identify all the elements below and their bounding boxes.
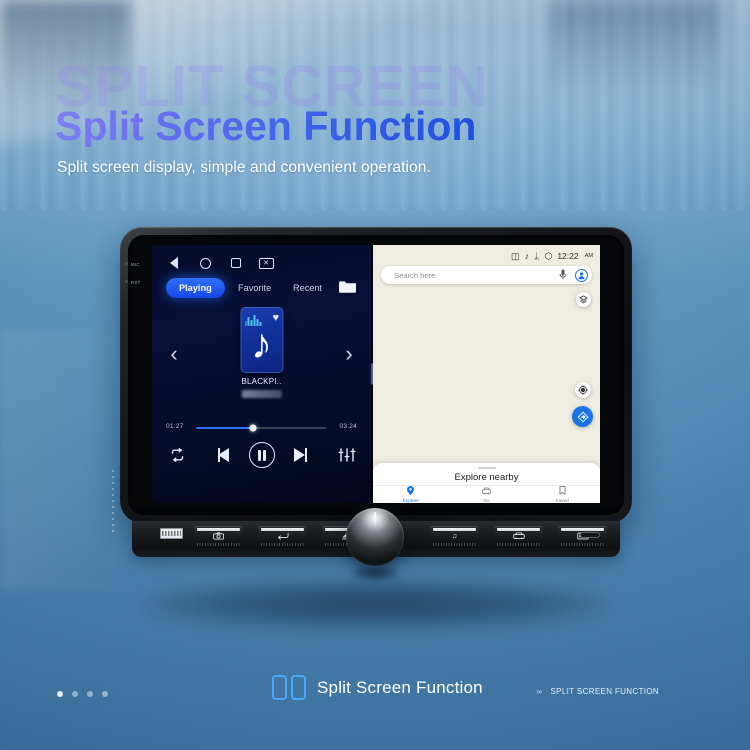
music-note-icon: ♪ <box>525 252 530 261</box>
folder-icon[interactable] <box>338 279 357 294</box>
music-player-pane[interactable]: ✕ Playing Favorite Recent ‹ <box>152 245 371 503</box>
location-icon: ⬡ <box>544 252 552 261</box>
reset-hole[interactable] <box>125 280 128 283</box>
back-button[interactable] <box>258 526 307 548</box>
sheet-drag-handle[interactable] <box>478 467 496 469</box>
track-title: BLACKPI.. <box>152 377 371 386</box>
previous-track-button[interactable] <box>214 445 232 465</box>
usb-port[interactable] <box>160 528 183 539</box>
reset-label: RST <box>131 280 141 285</box>
split-screen-icon <box>272 675 306 700</box>
search-input[interactable]: Search here <box>381 271 559 280</box>
recent-apps-icon[interactable] <box>228 256 244 270</box>
next-album-icon[interactable]: › <box>342 343 356 365</box>
progress-track[interactable] <box>196 427 326 429</box>
tab-explore[interactable]: Explore <box>373 486 449 503</box>
music-tabs: Playing Favorite Recent <box>152 278 371 300</box>
elapsed-time: 01:27 <box>166 423 184 430</box>
music-note-icon: ♪ <box>251 323 272 365</box>
tab-explore-label: Explore <box>403 498 419 503</box>
microphone-icon[interactable] <box>559 269 567 282</box>
pagination-dots <box>57 691 108 697</box>
explore-pin-icon <box>407 486 414 497</box>
sheet-title: Explore nearby <box>373 472 600 483</box>
progress-fill <box>196 427 253 429</box>
footer-label-text: Split Screen Function <box>317 678 483 698</box>
page-subtitle: Split screen display, simple and conveni… <box>57 159 431 177</box>
device-reflection-shadow <box>140 578 610 630</box>
tab-favorite[interactable]: Favorite <box>238 278 271 298</box>
music-button[interactable]: ♫ <box>430 526 479 548</box>
navigation-button[interactable] <box>494 526 543 548</box>
tab-playing[interactable]: Playing <box>166 278 225 298</box>
pagination-dot-4[interactable] <box>102 691 108 697</box>
volume-knob[interactable] <box>346 508 404 566</box>
my-location-button[interactable] <box>575 382 591 398</box>
touchscreen[interactable]: ✕ Playing Favorite Recent ‹ <box>152 245 600 503</box>
duration-time: 03:24 <box>339 423 357 430</box>
album-art[interactable]: ♥ ♪ <box>240 307 283 373</box>
equalizer-button[interactable] <box>337 445 357 465</box>
explore-sheet[interactable]: Explore nearby Explore <box>373 463 600 503</box>
footer-caps-text: SPLIT SCREEN FUNCTION <box>551 687 660 696</box>
screenshot-icon[interactable]: ✕ <box>258 256 274 270</box>
repeat-button[interactable] <box>167 445 187 465</box>
footer-badge: ››› SPLIT SCREEN FUNCTION <box>536 686 659 696</box>
knob-shadow <box>352 566 398 580</box>
album-carousel: ‹ ♥ ♪ › BLACKPI.. <box>152 307 371 407</box>
tab-saved[interactable]: Saved <box>524 486 600 503</box>
progress-knob[interactable] <box>250 424 257 431</box>
camera-button[interactable] <box>194 526 243 548</box>
heart-icon[interactable]: ♥ <box>272 313 279 324</box>
microphone-slot <box>580 532 600 538</box>
search-bar[interactable]: Search here <box>381 266 592 284</box>
status-bar: ◫ ♪ ᛦ ⬡ 12:22 AM <box>511 250 593 262</box>
pagination-dot-2[interactable] <box>72 691 78 697</box>
pause-button[interactable] <box>249 442 275 468</box>
tab-go-label: Go <box>483 498 489 503</box>
bluetooth-icon: ᛦ <box>534 252 539 261</box>
tab-go[interactable]: Go <box>449 486 525 503</box>
previous-album-icon[interactable]: ‹ <box>167 343 181 365</box>
map-layers-button[interactable] <box>576 292 591 307</box>
home-icon[interactable] <box>197 256 213 270</box>
next-track-button[interactable] <box>291 445 309 465</box>
tab-saved-label: Saved <box>555 498 569 503</box>
pagination-dot-1[interactable] <box>57 691 63 697</box>
playback-controls <box>152 441 371 477</box>
playback-progress[interactable]: 01:27 03:24 <box>152 421 371 435</box>
go-car-icon <box>482 487 491 497</box>
navigate-button[interactable] <box>572 406 593 427</box>
back-icon[interactable] <box>166 256 182 270</box>
mic-hole <box>125 262 128 265</box>
tab-recent[interactable]: Recent <box>293 278 322 298</box>
saved-bookmark-icon <box>559 486 566 497</box>
pagination-dot-3[interactable] <box>87 691 93 697</box>
android-navigation-bar: ✕ <box>152 252 371 274</box>
decorative-dotted-line <box>112 470 114 532</box>
maps-bottom-tabs: Explore Go <box>373 485 600 503</box>
status-time: 12:22 <box>557 251 578 261</box>
chevron-right-icon: ››› <box>536 686 542 696</box>
mic-label: MIC <box>131 262 140 267</box>
account-icon[interactable] <box>575 269 588 282</box>
maps-pane[interactable]: ◫ ♪ ᛦ ⬡ 12:22 AM Search here <box>373 245 600 503</box>
track-artist-blurred <box>242 390 282 398</box>
status-meridiem: AM <box>585 253 593 259</box>
usb-icon: ◫ <box>511 252 520 261</box>
car-head-unit: MIC RST ✕ Playing Favorite Recent <box>120 227 632 523</box>
footer-feature-label: Split Screen Function <box>272 675 483 700</box>
page-title: Split Screen Function <box>55 106 476 147</box>
